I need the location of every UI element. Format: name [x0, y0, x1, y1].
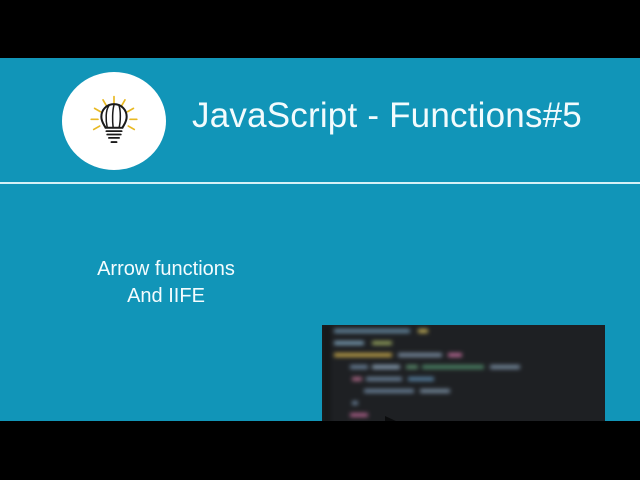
- slide-canvas: JavaScript - Functions#5 Arrow functions…: [0, 58, 640, 421]
- code-line: [372, 341, 392, 345]
- code-line: [334, 329, 410, 333]
- code-line: [448, 353, 462, 357]
- letterbox-bar-bottom: [0, 421, 640, 480]
- page-title: JavaScript - Functions#5: [192, 95, 582, 137]
- code-line: [352, 401, 358, 405]
- lightbulb-icon: [87, 94, 141, 148]
- logo-badge: [62, 72, 166, 170]
- lesson-topic-line-1: Arrow functions: [30, 256, 302, 283]
- lesson-topic-text: Arrow functions And IIFE: [30, 256, 302, 310]
- code-line: [366, 377, 402, 381]
- editor-gutter: [322, 325, 331, 421]
- code-line: [334, 341, 364, 345]
- video-slide: JavaScript - Functions#5 Arrow functions…: [0, 0, 640, 480]
- code-line: [364, 389, 414, 393]
- code-line: [406, 365, 418, 369]
- code-line: [352, 377, 362, 381]
- code-line: [398, 353, 442, 357]
- letterbox-bar-top: [0, 0, 640, 58]
- code-line: [418, 329, 428, 333]
- code-editor-preview: [322, 325, 605, 421]
- video-thumbnail[interactable]: [322, 325, 605, 421]
- code-line: [420, 389, 450, 393]
- slide-body: Arrow functions And IIFE: [0, 184, 640, 421]
- slide-header: JavaScript - Functions#5: [0, 58, 640, 183]
- code-line: [350, 413, 368, 417]
- code-line: [334, 353, 392, 357]
- code-line: [422, 365, 484, 369]
- code-line: [490, 365, 520, 369]
- code-line: [408, 377, 434, 381]
- code-line: [372, 365, 400, 369]
- lesson-topic-line-2: And IIFE: [30, 283, 302, 310]
- code-line: [350, 365, 368, 369]
